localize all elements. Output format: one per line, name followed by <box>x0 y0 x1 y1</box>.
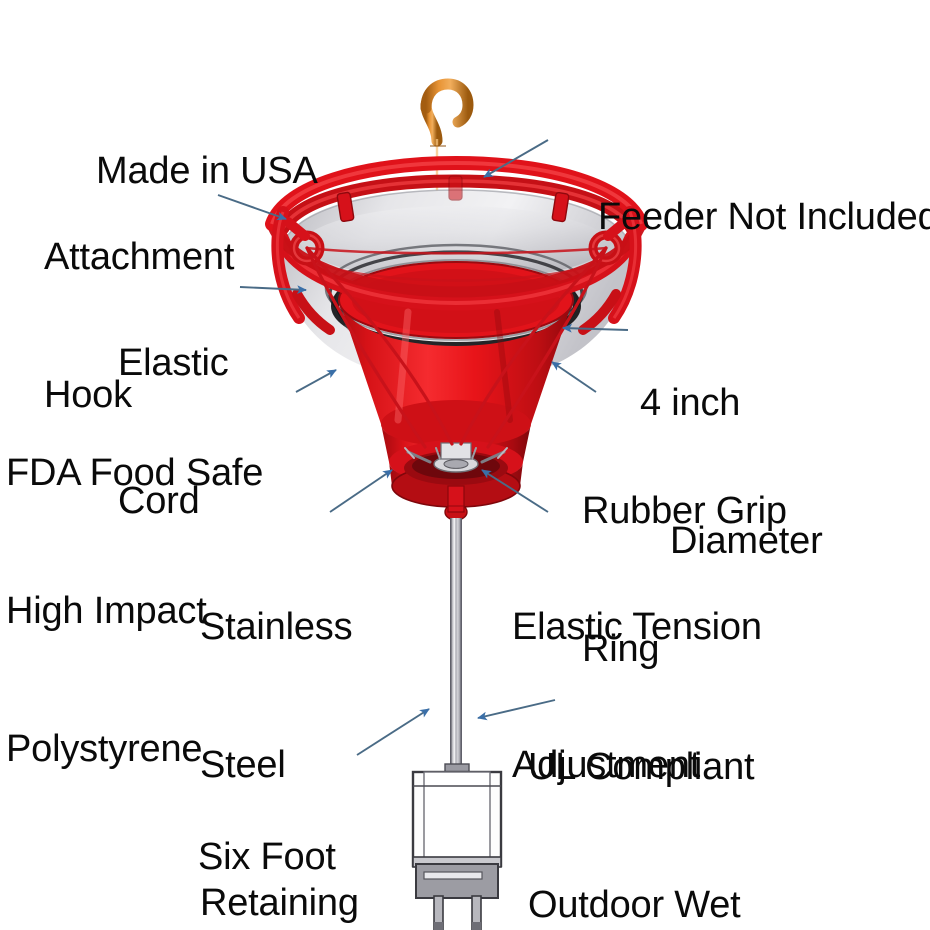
cage-rear-hoop <box>283 181 633 230</box>
leader-fda-material <box>296 370 336 392</box>
leader-stainless-clip <box>330 470 392 512</box>
label-six-foot-cord: Six Foot Cord <box>198 742 336 930</box>
plug-assembly <box>413 764 501 930</box>
leader-six-foot-cord <box>357 709 429 755</box>
red-conical-body <box>339 262 573 507</box>
leader-feeder-not-included <box>484 140 548 177</box>
label-ul-cord-set: UL Compliant Outdoor Wet Location Cord S… <box>528 652 872 930</box>
rubber-grip-ring-part <box>335 266 577 357</box>
elastic-tension-knob <box>445 486 467 520</box>
ul-cord-set-line-1: UL Compliant <box>528 744 872 790</box>
polystyrene-dome <box>281 190 632 383</box>
stainless-retaining-clips <box>405 443 507 462</box>
elastic-tension-line-1: Elastic Tension <box>512 604 762 650</box>
diagram-canvas: Made in USA Feeder Not Included Attachme… <box>0 0 930 930</box>
cage-front <box>272 163 641 330</box>
leader-elastic-cord <box>240 287 306 290</box>
stainless-clip-line-1: Stainless <box>200 604 359 650</box>
leader-rubber-grip <box>552 362 596 392</box>
ul-cord-set-line-2: Outdoor Wet <box>528 882 872 928</box>
cage-tabs <box>337 176 569 222</box>
six-foot-cord <box>450 518 462 768</box>
six-foot-cord-line-1: Six Foot <box>198 834 336 880</box>
fda-material-line-1: FDA Food Safe <box>6 450 263 496</box>
feeder-not-included-line-1: Feeder Not Included <box>598 194 930 240</box>
leader-elastic-tension <box>482 470 548 512</box>
attachment-hook-part <box>426 84 468 221</box>
elastic-cords <box>307 248 606 447</box>
